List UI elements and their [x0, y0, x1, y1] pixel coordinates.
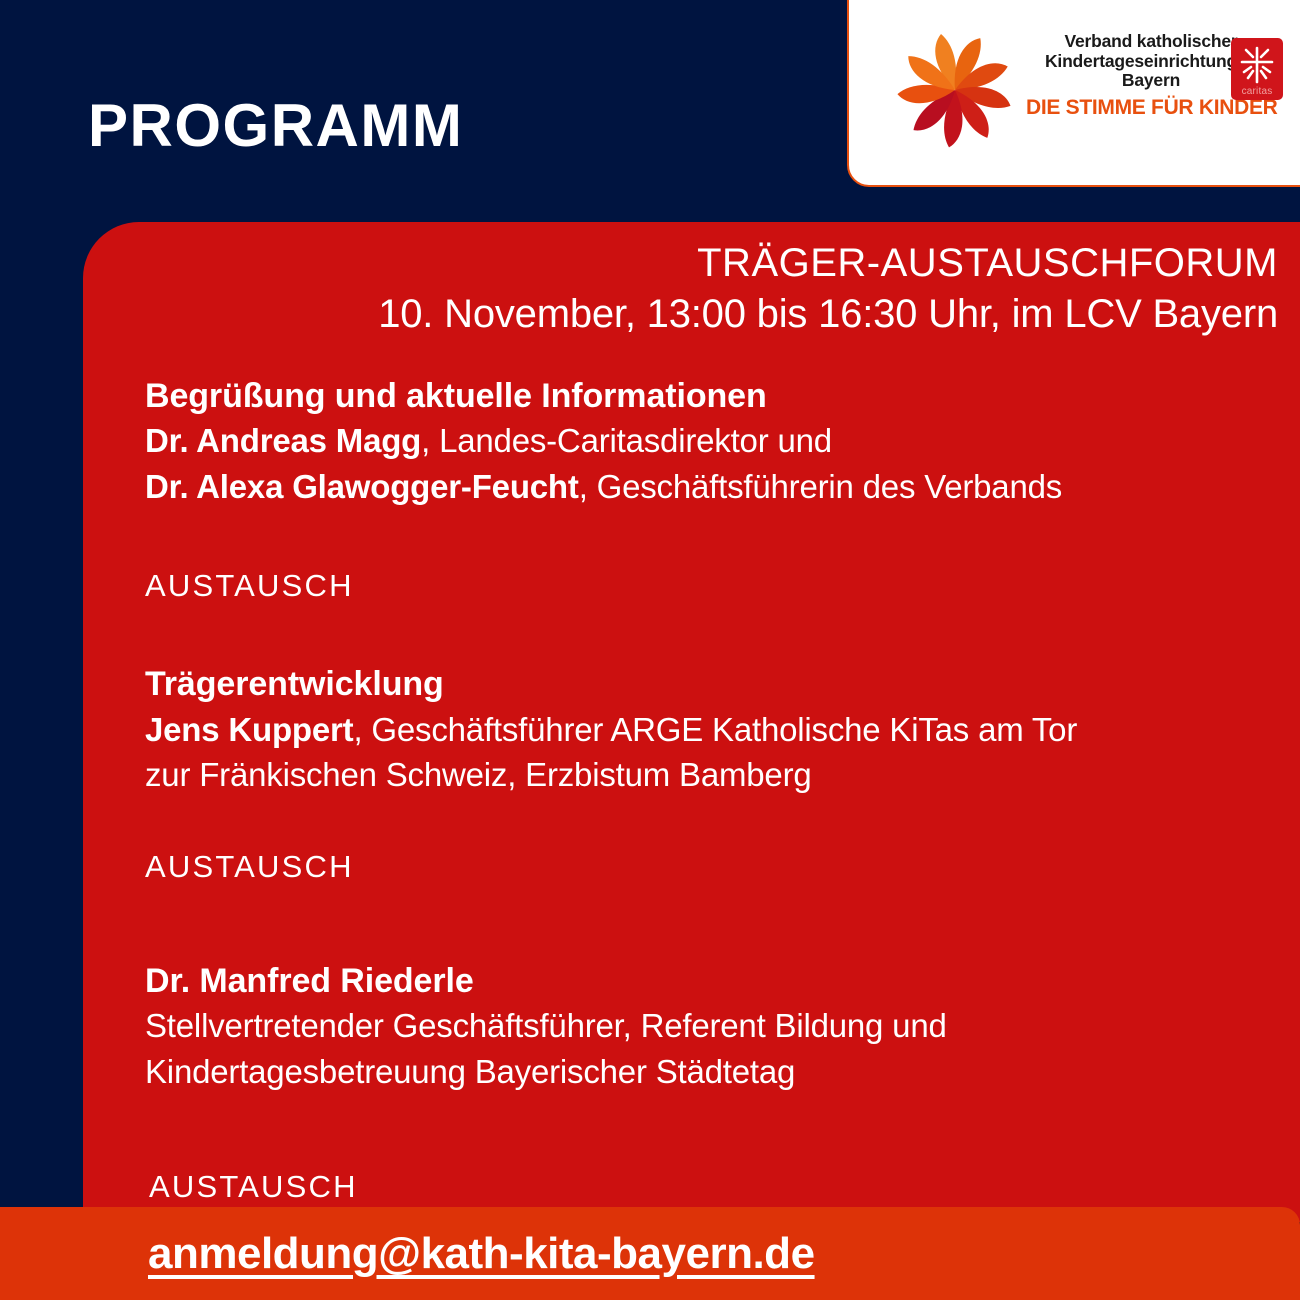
agenda-break-1: AUSTAUSCH	[145, 567, 1270, 604]
footer-band: anmeldung@kath-kita-bayern.de	[0, 1207, 1300, 1300]
speaker-name: Dr. Andreas Magg	[145, 422, 421, 459]
event-header: TRÄGER-AUSTAUSCHFORUM 10. November, 13:0…	[378, 238, 1278, 340]
organization-logo-box: Verband katholischer Kindertageseinricht…	[847, 0, 1300, 187]
agenda-item-speaker-1: Jens Kuppert, Geschäftsführer ARGE Katho…	[145, 707, 1270, 753]
agenda-item-speaker-2: Dr. Alexa Glawogger-Feucht, Geschäftsfüh…	[145, 464, 1270, 510]
poster-canvas: PROGRAMM	[0, 0, 1300, 1300]
event-details: 10. November, 13:00 bis 16:30 Uhr, im LC…	[378, 289, 1278, 340]
page-title: PROGRAMM	[88, 96, 463, 156]
agenda-item-title: Trägerentwicklung	[145, 662, 1270, 706]
caritas-wordmark: caritas	[1231, 86, 1283, 97]
spacer	[145, 509, 1270, 567]
speaker-role: , Landes-Caritasdirektor und	[421, 422, 832, 459]
speaker-name: Jens Kuppert	[145, 711, 353, 748]
pinwheel-logo-icon	[891, 26, 1019, 154]
agenda-break-2: AUSTAUSCH	[145, 848, 1270, 885]
agenda-item-begruessung: Begrüßung und aktuelle Informationen Dr.…	[145, 374, 1270, 509]
spacer	[145, 1094, 1270, 1168]
agenda-item-traegerentwicklung: Trägerentwicklung Jens Kuppert, Geschäft…	[145, 662, 1270, 797]
agenda-item-speaker-1: Dr. Andreas Magg, Landes-Caritasdirektor…	[145, 418, 1270, 464]
speaker-role: , Geschäftsführer ARGE Katholische KiTas…	[353, 711, 1077, 748]
caritas-cross-icon: caritas	[1231, 38, 1283, 100]
registration-email-link[interactable]: anmeldung@kath-kita-bayern.de	[148, 1229, 815, 1279]
agenda-break-3: AUSTAUSCH	[145, 1168, 1270, 1205]
spacer	[145, 885, 1270, 959]
spacer	[145, 798, 1270, 848]
spacer	[145, 604, 1270, 662]
agenda-item-riederle: Dr. Manfred Riederle Stellvertretender G…	[145, 959, 1270, 1094]
agenda-item-title: Dr. Manfred Riederle	[145, 959, 1270, 1003]
agenda-item-desc-line2: Kindertagesbetreuung Bayerischer Städtet…	[145, 1049, 1270, 1095]
agenda-item-desc-line1: Stellvertretender Geschäftsführer, Refer…	[145, 1003, 1270, 1049]
speaker-name: Dr. Alexa Glawogger-Feucht	[145, 468, 579, 505]
agenda-item-title: Begrüßung und aktuelle Informationen	[145, 374, 1270, 418]
program-panel: TRÄGER-AUSTAUSCHFORUM 10. November, 13:0…	[83, 222, 1300, 1222]
agenda-item-speaker-1-line2: zur Fränkischen Schweiz, Erzbistum Bambe…	[145, 752, 1270, 798]
speaker-role: , Geschäftsführerin des Verbands	[579, 468, 1062, 505]
event-title: TRÄGER-AUSTAUSCHFORUM	[378, 238, 1278, 289]
logo-inner: Verband katholischer Kindertageseinricht…	[891, 20, 1291, 160]
agenda-list: Begrüßung und aktuelle Informationen Dr.…	[145, 374, 1270, 1205]
